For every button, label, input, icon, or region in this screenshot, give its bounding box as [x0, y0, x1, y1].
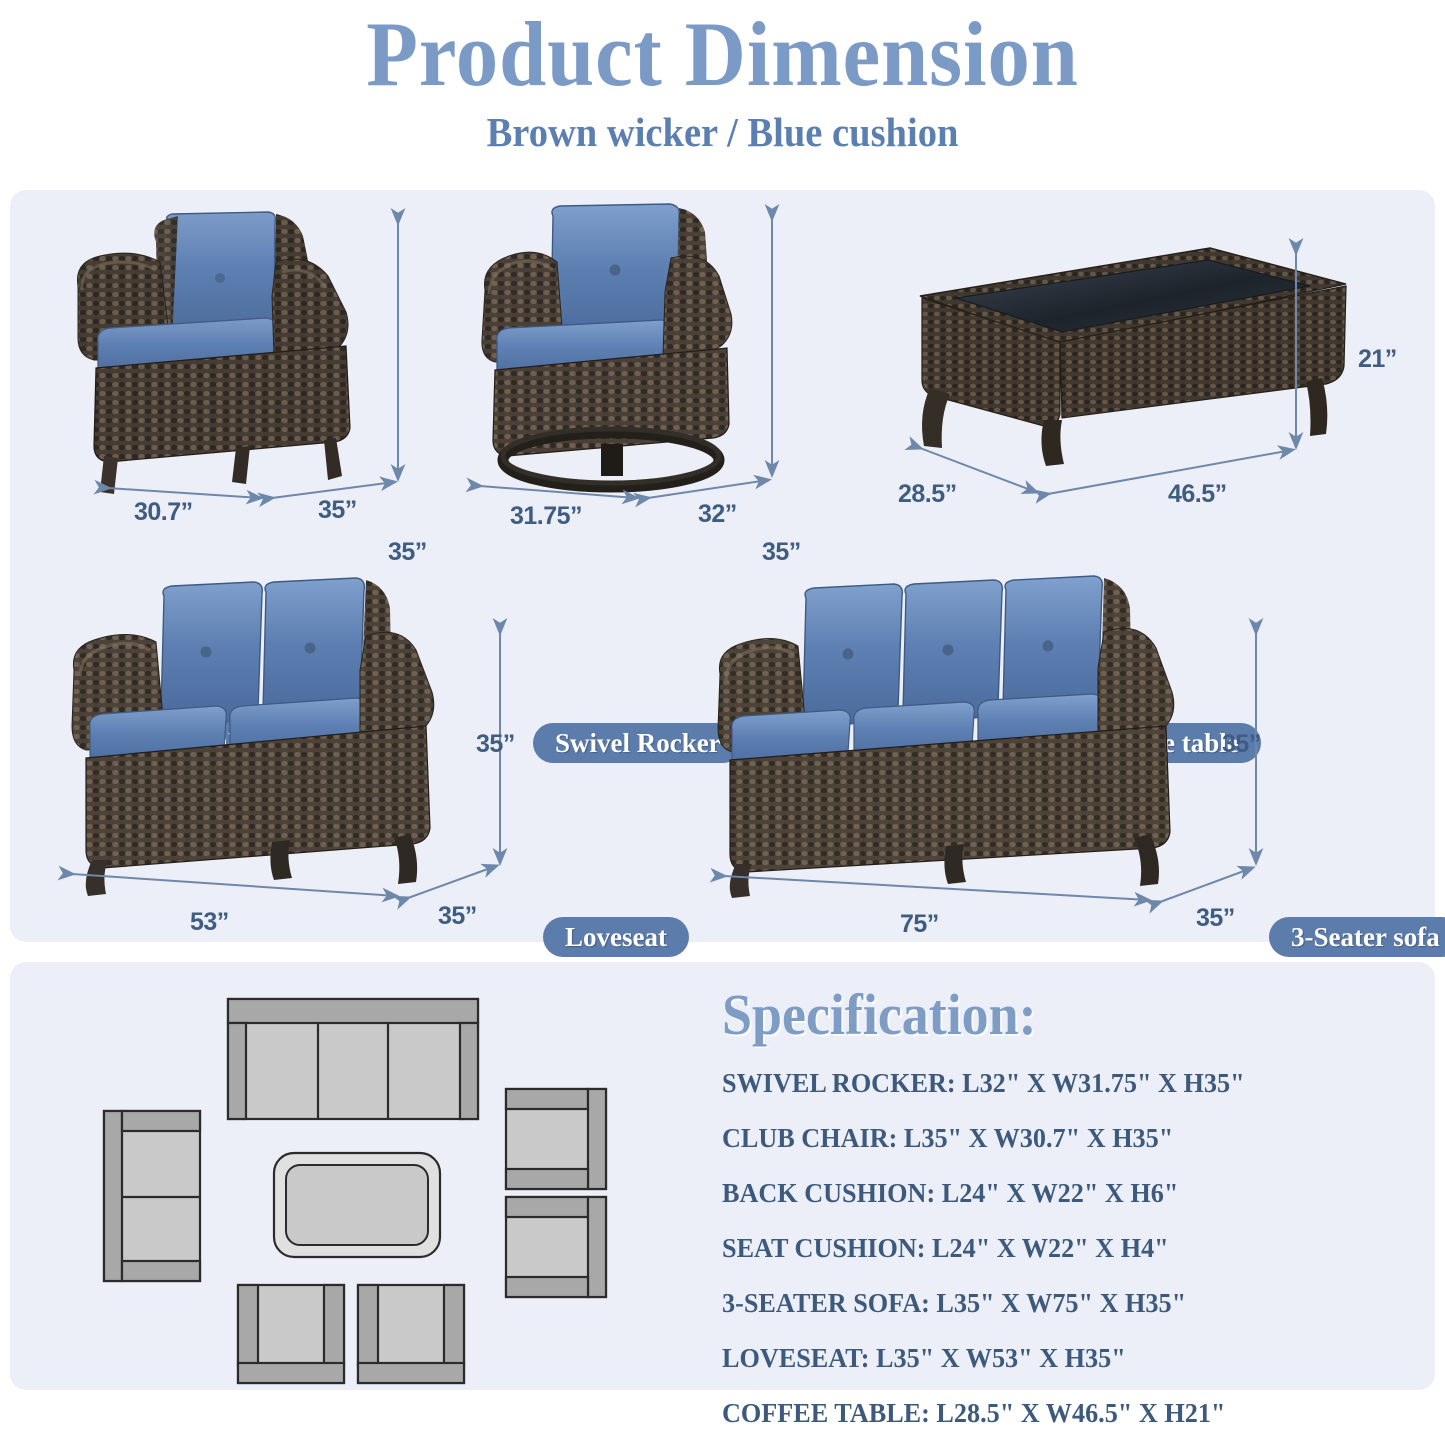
- club-chair-width-dim: 30.7”: [134, 498, 193, 527]
- spec-line-three-seater-sofa: 3-SEATER SOFA: L35" X W75" X H35": [722, 1276, 1401, 1331]
- furniture-layout-diagram: [40, 985, 690, 1385]
- loveseat-label: Loveseat: [543, 917, 689, 957]
- spec-line-seat-cushion: SEAT CUSHION: L24" X W22" X H4": [722, 1221, 1401, 1276]
- loveseat-depth-dim: 35”: [438, 902, 477, 931]
- three-seater-sofa-label: 3-Seater sofa: [1269, 917, 1445, 957]
- spec-line-loveseat: LOVESEAT: L35" X W53" X H35": [722, 1331, 1401, 1386]
- three-seater-sofa-depth-dim: 35”: [1196, 904, 1235, 933]
- layout-piece-chair-right-lower: [506, 1197, 606, 1297]
- page-subtitle: Brown wicker / Blue cushion: [43, 108, 1401, 156]
- layout-piece-chair-right-upper: [506, 1089, 606, 1189]
- club-chair-dimension-arrows: [50, 200, 450, 520]
- loveseat-height-dim: 35”: [476, 730, 515, 759]
- coffee-table-width-dim: 28.5”: [898, 480, 957, 509]
- page-title: Product Dimension: [58, 2, 1387, 106]
- spec-line-back-cushion: BACK CUSHION: L24" X W22" X H6": [722, 1166, 1401, 1221]
- club-chair-depth-dim: 35”: [318, 496, 357, 525]
- coffee-table-dimension-arrows: [900, 238, 1370, 558]
- coffee-table-depth-dim: 46.5”: [1168, 480, 1227, 509]
- swivel-rocker-height-dim: 35”: [762, 538, 801, 567]
- three-seater-sofa-width-dim: 75”: [900, 910, 939, 939]
- club-chair-height-dim: 35”: [388, 538, 427, 567]
- layout-piece-chair-bottom-right: [358, 1285, 464, 1383]
- swivel-rocker-dimension-arrows: [452, 198, 852, 528]
- spec-line-club-chair: CLUB CHAIR: L35" X W30.7" X H35": [722, 1111, 1401, 1166]
- spec-line-coffee-table: COFFEE TABLE: L28.5" X W46.5" X H21": [722, 1386, 1401, 1441]
- specification-block: Specification: SWIVEL ROCKER: L32" X W31…: [722, 982, 1422, 1441]
- layout-piece-loveseat-left: [104, 1111, 200, 1281]
- loveseat-width-dim: 53”: [190, 908, 229, 937]
- layout-piece-coffee-table-center: [274, 1153, 440, 1257]
- three-seater-sofa-height-dim: 35”: [1222, 730, 1261, 759]
- page-header: Product Dimension Brown wicker / Blue cu…: [0, 0, 1445, 182]
- layout-piece-sofa-top: [228, 999, 478, 1119]
- coffee-table-height-dim: 21”: [1358, 345, 1397, 374]
- specification-heading: Specification:: [722, 982, 1373, 1048]
- swivel-rocker-depth-dim: 32”: [698, 500, 737, 529]
- product-figures-panel: 35” 30.7” 35” Club Chair X 2: [10, 190, 1435, 942]
- spec-line-swivel-rocker: SWIVEL ROCKER: L32" X W31.75" X H35": [722, 1056, 1401, 1111]
- swivel-rocker-width-dim: 31.75”: [510, 502, 582, 531]
- layout-piece-chair-bottom-left: [238, 1285, 344, 1383]
